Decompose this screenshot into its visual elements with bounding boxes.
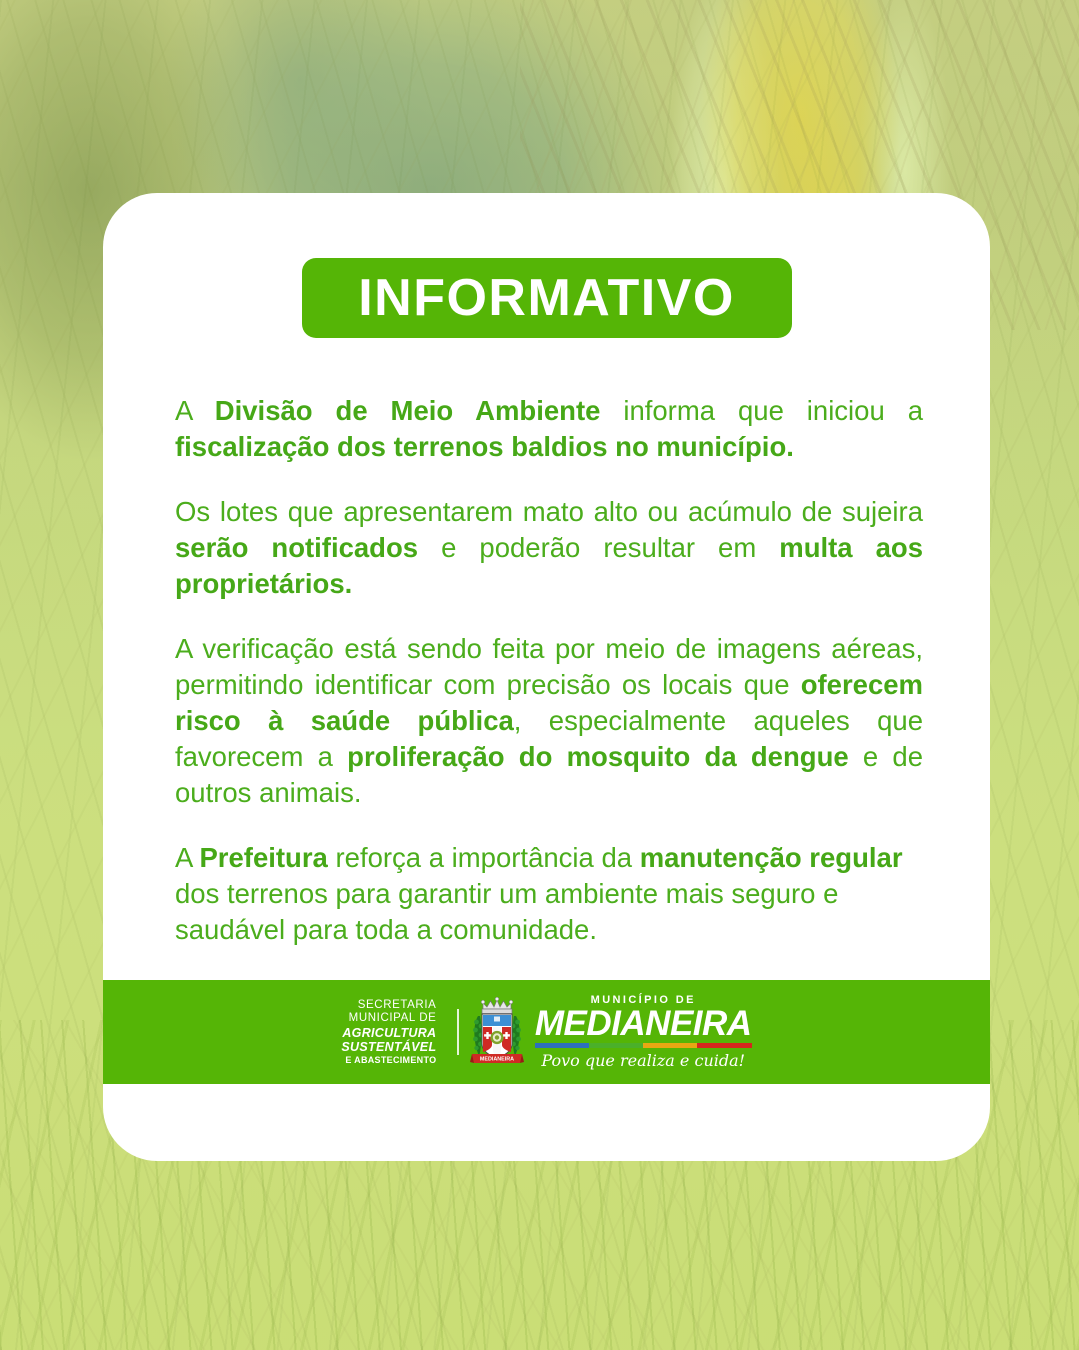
- paragraph-p3: A verificação está sendo feita por meio …: [175, 631, 923, 811]
- secretaria-line-1: SECRETARIA: [341, 999, 436, 1012]
- text-emphasis: Divisão de Meio Ambiente: [215, 395, 601, 426]
- color-bar-segment-1: [535, 1043, 589, 1048]
- text-emphasis: fiscalização dos terrenos baldios no mun…: [175, 431, 794, 462]
- secretaria-block: SECRETARIA MUNICIPAL DE AGRICULTURA SUST…: [341, 999, 446, 1065]
- content-card: INFORMATIVO A Divisão de Meio Ambiente i…: [103, 193, 990, 1161]
- text-run: A: [175, 395, 215, 426]
- paragraph-p4: A Prefeitura reforça a importância da ma…: [175, 840, 923, 948]
- secretaria-line-5: E ABASTECIMENTO: [341, 1055, 436, 1065]
- secretaria-line-3: AGRICULTURA: [341, 1026, 436, 1041]
- paragraph-p1: A Divisão de Meio Ambiente informa que i…: [175, 393, 923, 465]
- wordmark-name: MEDIANEIRA: [535, 1007, 752, 1040]
- secretaria-line-4: SUSTENTÁVEL: [341, 1040, 436, 1055]
- text-emphasis: proliferação do mosquito da dengue: [347, 741, 849, 772]
- text-emphasis: serão notificados: [175, 532, 418, 563]
- informative-poster: INFORMATIVO A Divisão de Meio Ambiente i…: [0, 0, 1079, 1350]
- paragraph-p2: Os lotes que apresentarem mato alto ou a…: [175, 494, 923, 602]
- header-banner-wrapper: INFORMATIVO: [103, 258, 990, 338]
- coat-of-arms-icon: MEDIANEIRA: [470, 996, 524, 1068]
- vertical-divider: [457, 1009, 459, 1055]
- text-run: reforça a importância da: [328, 842, 640, 873]
- logo-row: SECRETARIA MUNICIPAL DE AGRICULTURA SUST…: [341, 994, 751, 1070]
- banner-title: INFORMATIVO: [358, 268, 735, 328]
- wordmark-color-bar: [535, 1043, 752, 1048]
- text-emphasis: Prefeitura: [199, 842, 327, 873]
- text-run: e poderão resultar em: [418, 532, 779, 563]
- color-bar-segment-2: [589, 1043, 643, 1048]
- text-run: dos terrenos para garantir um ambiente m…: [175, 878, 838, 945]
- svg-text:MEDIANEIRA: MEDIANEIRA: [480, 1057, 514, 1063]
- footer-logo-band: SECRETARIA MUNICIPAL DE AGRICULTURA SUST…: [103, 980, 990, 1084]
- header-banner: INFORMATIVO: [302, 258, 792, 338]
- secretaria-line-2: MUNICIPAL DE: [341, 1012, 436, 1025]
- text-run: informa que iniciou a: [600, 395, 923, 426]
- color-bar-segment-3: [643, 1043, 697, 1048]
- text-run: A: [175, 842, 199, 873]
- wordmark-tagline: Povo que realiza e cuida!: [535, 1051, 752, 1070]
- medianeira-wordmark: MUNICÍPIO DE MEDIANEIRA Povo que realiza…: [524, 994, 752, 1070]
- text-emphasis: manutenção regular: [640, 842, 903, 873]
- announcement-body: A Divisão de Meio Ambiente informa que i…: [175, 393, 923, 948]
- color-bar-segment-4: [697, 1043, 751, 1048]
- text-run: Os lotes que apresentarem mato alto ou a…: [175, 496, 923, 527]
